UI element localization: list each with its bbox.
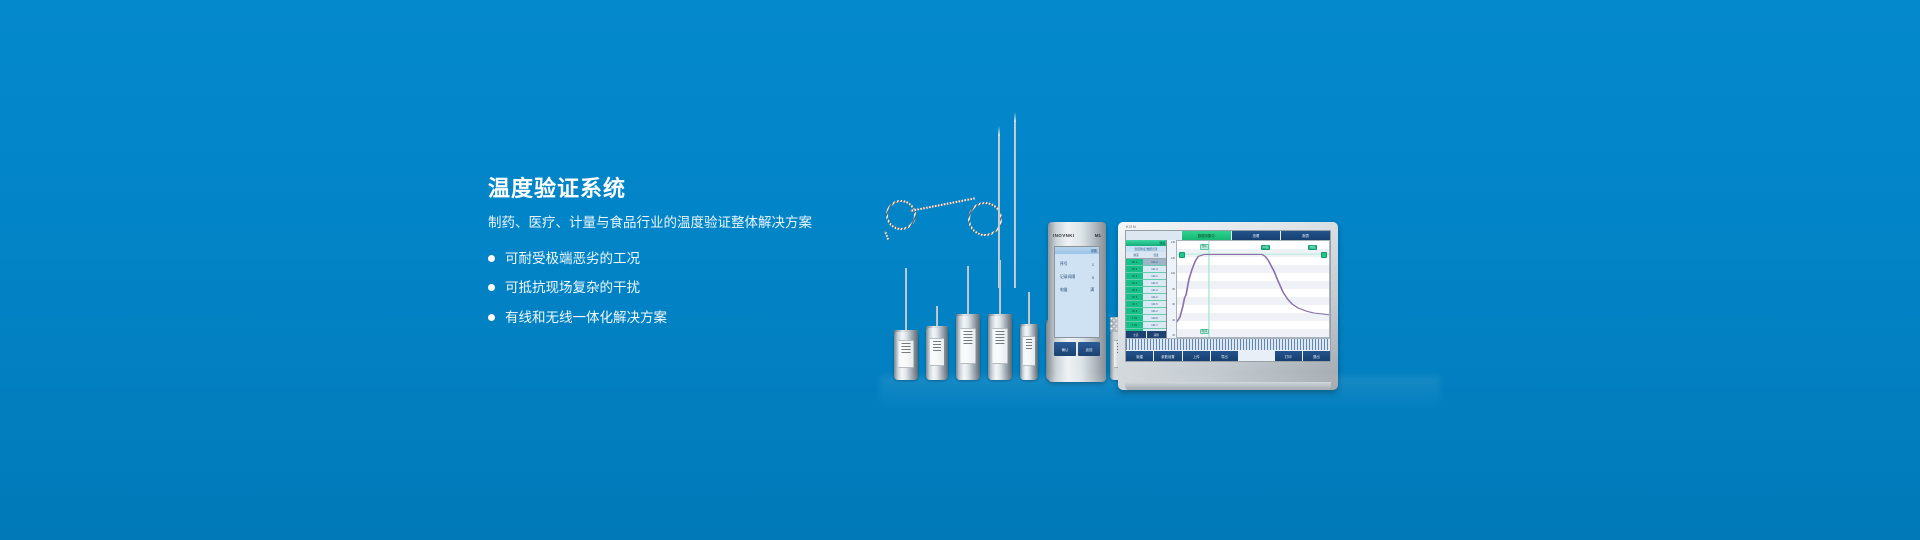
monitor-top-toolbar: 数据采集中 查看 报表 bbox=[1126, 231, 1330, 240]
table-cell-value: 121.2 bbox=[1151, 310, 1158, 313]
handheld-field-value: 5 bbox=[1092, 276, 1094, 280]
cursor-bottom-chip[interactable]: 时间 bbox=[1200, 329, 1209, 335]
channel-table-header-label: 通道 bbox=[1159, 241, 1165, 245]
table-cell-value: 121.3 bbox=[1151, 289, 1158, 292]
settings-button[interactable]: 参数设置 bbox=[1154, 351, 1181, 361]
temperature-curve bbox=[1177, 254, 1329, 321]
table-cell-value: 121.7 bbox=[1151, 324, 1158, 327]
range-left-handle[interactable] bbox=[1179, 252, 1185, 258]
product-photo-group: INOVNKI M1 设置 序号 1 记录间隔 5 电量 满 bbox=[880, 118, 1440, 408]
table-cell-channel: Ch 1 bbox=[1132, 261, 1137, 264]
toolbar-gap bbox=[1239, 351, 1274, 361]
hero-banner: 温度验证系统 制药、医疗、计量与食品行业的温度验证整体解决方案 可耐受极端恶劣的… bbox=[0, 0, 1920, 540]
table-cell-channel: Ch 2 bbox=[1132, 268, 1137, 271]
chart-time-scrollbar[interactable] bbox=[1126, 338, 1330, 350]
handheld-field-key: 记录间隔 bbox=[1060, 275, 1075, 280]
clear-button[interactable]: 清除 bbox=[1147, 331, 1167, 338]
cursor-top-chip[interactable]: 游标 bbox=[1200, 244, 1209, 250]
new-button[interactable]: 新建 bbox=[1126, 351, 1153, 361]
channel-table-subheader-label: 温度验证 数据记录 bbox=[1134, 247, 1157, 251]
page-title: 温度验证系统 bbox=[488, 178, 918, 200]
report-button-label: 报表 bbox=[1302, 233, 1309, 238]
channel-table[interactable]: 通道 温度验证 数据记录 通道 温度 bbox=[1126, 240, 1167, 338]
status-badge[interactable]: 数据采集中 bbox=[1182, 231, 1231, 240]
table-cell-channel: Ch 4 bbox=[1132, 282, 1137, 285]
range-right-handle[interactable] bbox=[1321, 252, 1327, 258]
export-button[interactable]: 导出 bbox=[1211, 351, 1238, 361]
handheld-field-row: 电量 满 bbox=[1060, 288, 1094, 293]
monitor-screen[interactable]: 数据采集中 查看 报表 通道 bbox=[1125, 230, 1331, 362]
table-cell-channel: T 02 bbox=[1132, 324, 1137, 327]
bullet-dot-icon bbox=[488, 255, 495, 262]
monitor-bottom-toolbar: 新建 参数设置 上传 导出 打印 退出 bbox=[1126, 351, 1330, 361]
probe-stem bbox=[967, 266, 969, 316]
handheld-brand-label: INOVNKI bbox=[1053, 233, 1075, 238]
probe-body bbox=[926, 328, 948, 380]
view-button[interactable]: 查看 bbox=[1232, 231, 1281, 240]
table-row[interactable]: Ch 4 121.6 bbox=[1126, 280, 1166, 287]
probe-body bbox=[1020, 326, 1038, 380]
coiled-sensor-icon bbox=[886, 200, 916, 230]
probe-stem bbox=[936, 306, 938, 328]
table-row[interactable]: Ch 3 121.1 bbox=[1126, 273, 1166, 280]
status-badge-label: 数据采集中 bbox=[1198, 233, 1215, 238]
column-header-channel: 通道 bbox=[1126, 252, 1146, 258]
chart-area: 140 120 100 80 60 40 20 bbox=[1167, 240, 1330, 338]
channel-table-footer: 全选 清除 bbox=[1126, 331, 1166, 338]
table-row[interactable]: Ch 8 121.2 bbox=[1126, 308, 1166, 315]
handheld-field-key: 序号 bbox=[1060, 262, 1068, 267]
grid-chip-b: 均值 bbox=[1308, 245, 1317, 251]
coiled-sensor-arm bbox=[884, 231, 889, 241]
print-button[interactable]: 打印 bbox=[1275, 351, 1302, 361]
chart-plot[interactable]: 游标 时间 F0值 均值 bbox=[1176, 240, 1330, 338]
probe-stem bbox=[999, 260, 1001, 316]
table-cell-value: 120.9 bbox=[1151, 317, 1158, 320]
report-button[interactable]: 报表 bbox=[1281, 231, 1330, 240]
feature-bullet-label: 有线和无线一体化解决方案 bbox=[505, 311, 667, 325]
handheld-titlebar-label: 设置 bbox=[1091, 248, 1097, 253]
table-cell-channel: Ch 7 bbox=[1132, 303, 1137, 306]
chart-svg bbox=[1177, 241, 1329, 337]
select-all-button[interactable]: 全选 bbox=[1126, 331, 1147, 338]
table-cell-channel: Ch 3 bbox=[1132, 275, 1137, 278]
handheld-titlebar: 设置 bbox=[1055, 247, 1099, 254]
monitor-stand bbox=[1125, 382, 1331, 390]
probe-label bbox=[1023, 336, 1035, 366]
feature-bullet-label: 可耐受极端恶劣的工况 bbox=[505, 252, 640, 266]
toolbar-spacer bbox=[1126, 231, 1182, 240]
hero-text-block: 温度验证系统 制药、医疗、计量与食品行业的温度验证整体解决方案 可耐受极端恶劣的… bbox=[488, 178, 918, 340]
table-row[interactable]: Ch 7 121.5 bbox=[1126, 301, 1166, 308]
table-cell-value: 121.2 bbox=[1151, 261, 1158, 264]
handheld-field-value: 1 bbox=[1092, 263, 1094, 267]
handheld-back-label: 返回 bbox=[1086, 347, 1093, 352]
probe-label bbox=[930, 338, 944, 366]
probe-stem bbox=[905, 268, 907, 332]
channel-table-rows[interactable]: Ch 1 121.2 Ch 2 121.4 Ch 3 121.1 bbox=[1126, 259, 1166, 331]
handheld-terminal[interactable]: INOVNKI M1 设置 序号 1 记录间隔 5 电量 满 bbox=[1048, 222, 1106, 382]
probe-stem bbox=[1028, 292, 1030, 326]
feature-bullet-label: 可抵抗现场复杂的干扰 bbox=[505, 281, 640, 295]
probe-body bbox=[956, 316, 980, 380]
probe-label bbox=[993, 328, 1008, 364]
handheld-field-value: 满 bbox=[1090, 288, 1094, 293]
view-button-label: 查看 bbox=[1253, 233, 1260, 238]
probe-body bbox=[894, 332, 918, 380]
table-cell-channel: T 01 bbox=[1132, 317, 1137, 320]
validation-monitor[interactable]: KON 数据采集中 查看 报表 bbox=[1118, 222, 1338, 390]
needle-probe-taller bbox=[1014, 122, 1016, 288]
handheld-field-row: 记录间隔 5 bbox=[1060, 275, 1094, 280]
table-cell-channel: Ch 6 bbox=[1132, 296, 1137, 299]
handheld-brand-bar: INOVNKI M1 bbox=[1053, 231, 1101, 240]
coiled-sensor-icon bbox=[968, 202, 1002, 236]
channel-table-columns: 通道 温度 bbox=[1126, 252, 1166, 259]
feature-bullet-2: 可抵抗现场复杂的干扰 bbox=[488, 281, 918, 295]
handheld-confirm-button[interactable]: 确认 bbox=[1054, 342, 1076, 356]
bullet-dot-icon bbox=[488, 314, 495, 321]
grid-chip-a: F0值 bbox=[1261, 245, 1271, 251]
feature-bullet-3: 有线和无线一体化解决方案 bbox=[488, 311, 918, 325]
probe-label bbox=[899, 340, 914, 368]
table-cell-channel: Ch 5 bbox=[1132, 289, 1137, 292]
table-cell-value: 121.0 bbox=[1151, 296, 1158, 299]
handheld-field-row: 序号 1 bbox=[1060, 262, 1094, 267]
hero-subtitle: 制药、医疗、计量与食品行业的温度验证整体解决方案 bbox=[488, 216, 918, 230]
table-row[interactable]: Ch 5 121.3 bbox=[1126, 287, 1166, 294]
chart-y-axis: 140 120 100 80 60 40 20 bbox=[1167, 240, 1176, 338]
column-header-temperature: 温度 bbox=[1146, 252, 1166, 258]
probe-label bbox=[961, 328, 976, 364]
handheld-model-label: M1 bbox=[1095, 233, 1101, 238]
bullet-dot-icon bbox=[488, 284, 495, 291]
feature-bullet-1: 可耐受极端恶劣的工况 bbox=[488, 252, 918, 266]
handheld-screen[interactable]: 设置 序号 1 记录间隔 5 电量 满 bbox=[1054, 246, 1100, 338]
handheld-keypad: 确认 返回 bbox=[1054, 342, 1100, 356]
upload-button[interactable]: 上传 bbox=[1183, 351, 1210, 361]
table-cell-channel: Ch 8 bbox=[1132, 310, 1137, 313]
table-row[interactable]: Ch 2 121.4 bbox=[1126, 266, 1166, 273]
table-row[interactable]: T 01 120.9 bbox=[1126, 315, 1166, 322]
handheld-confirm-label: 确认 bbox=[1062, 347, 1069, 352]
monitor-main-area: 通道 温度验证 数据记录 通道 温度 bbox=[1126, 240, 1330, 338]
table-cell-value: 121.6 bbox=[1151, 282, 1158, 285]
coiled-sensor-arm bbox=[910, 197, 975, 212]
table-cell-value: 121.5 bbox=[1151, 303, 1158, 306]
handheld-field-key: 电量 bbox=[1060, 288, 1068, 293]
table-row[interactable]: Ch 1 121.2 bbox=[1126, 259, 1166, 266]
probe-body bbox=[988, 316, 1012, 380]
table-cell-value: 121.1 bbox=[1151, 275, 1158, 278]
table-row[interactable]: T 02 121.7 bbox=[1126, 322, 1166, 329]
table-row[interactable]: Ch 6 121.0 bbox=[1126, 294, 1166, 301]
table-cell-value: 121.4 bbox=[1151, 268, 1158, 271]
exit-button[interactable]: 退出 bbox=[1303, 351, 1330, 361]
monitor-brand-label: KON bbox=[1126, 224, 1136, 229]
handheld-back-button[interactable]: 返回 bbox=[1078, 342, 1100, 356]
